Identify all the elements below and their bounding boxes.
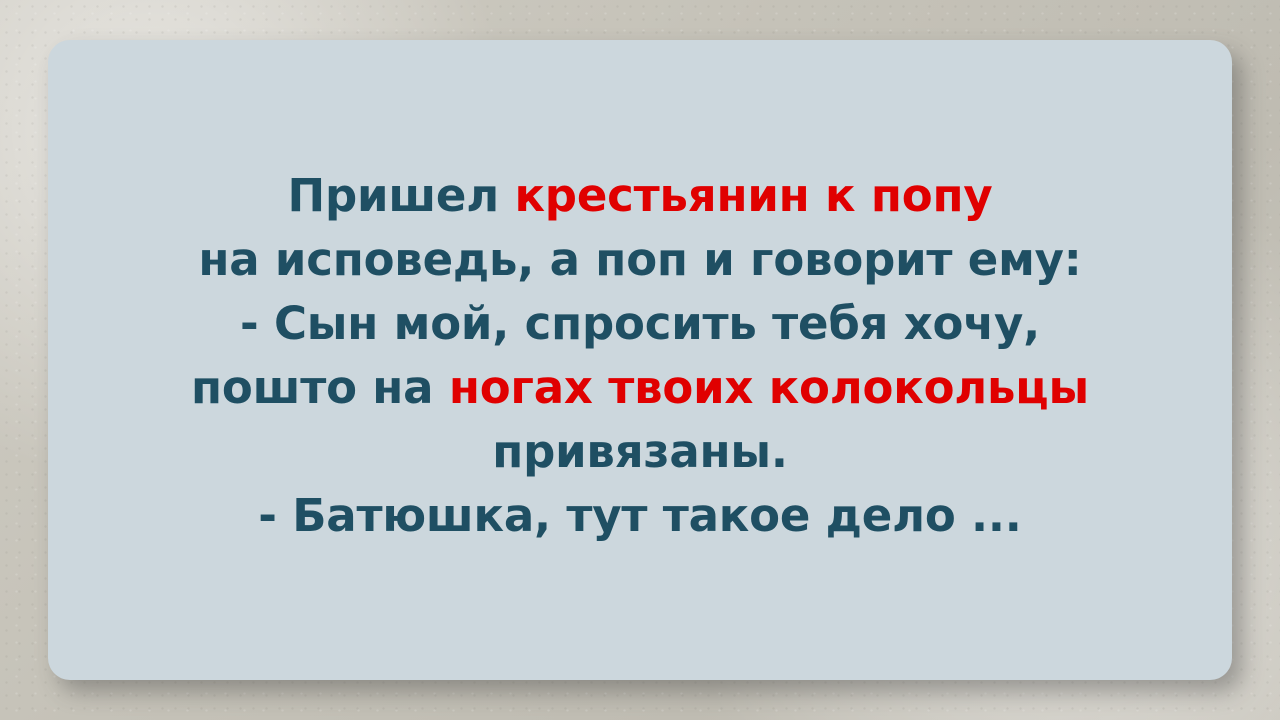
joke-plain-text: привязаны. (492, 425, 788, 478)
joke-line: привязаны. (88, 420, 1192, 484)
joke-line: - Сын мой, спросить тебя хочу, (88, 292, 1192, 356)
joke-highlight-text: крестьянин к попу (514, 169, 992, 222)
joke-line: - Батюшка, тут такое дело ... (88, 484, 1192, 548)
joke-line: пошто на ногах твоих колокольцы (88, 356, 1192, 420)
image-canvas: Пришел крестьянин к попуна исповедь, а п… (0, 0, 1280, 720)
joke-plain-text: - Батюшка, тут такое дело ... (258, 489, 1021, 542)
joke-line: Пришел крестьянин к попу (88, 164, 1192, 228)
joke-text: Пришел крестьянин к попуна исповедь, а п… (88, 164, 1192, 547)
joke-plain-text: пошто на (191, 361, 449, 414)
joke-line: на исповедь, а поп и говорит ему: (88, 228, 1192, 292)
joke-plain-text: - Сын мой, спросить тебя хочу, (240, 297, 1040, 350)
joke-plain-text: Пришел (288, 169, 515, 222)
joke-plain-text: на исповедь, а поп и говорит ему: (198, 233, 1081, 286)
joke-highlight-text: ногах твоих колокольцы (449, 361, 1089, 414)
joke-card: Пришел крестьянин к попуна исповедь, а п… (48, 40, 1232, 680)
